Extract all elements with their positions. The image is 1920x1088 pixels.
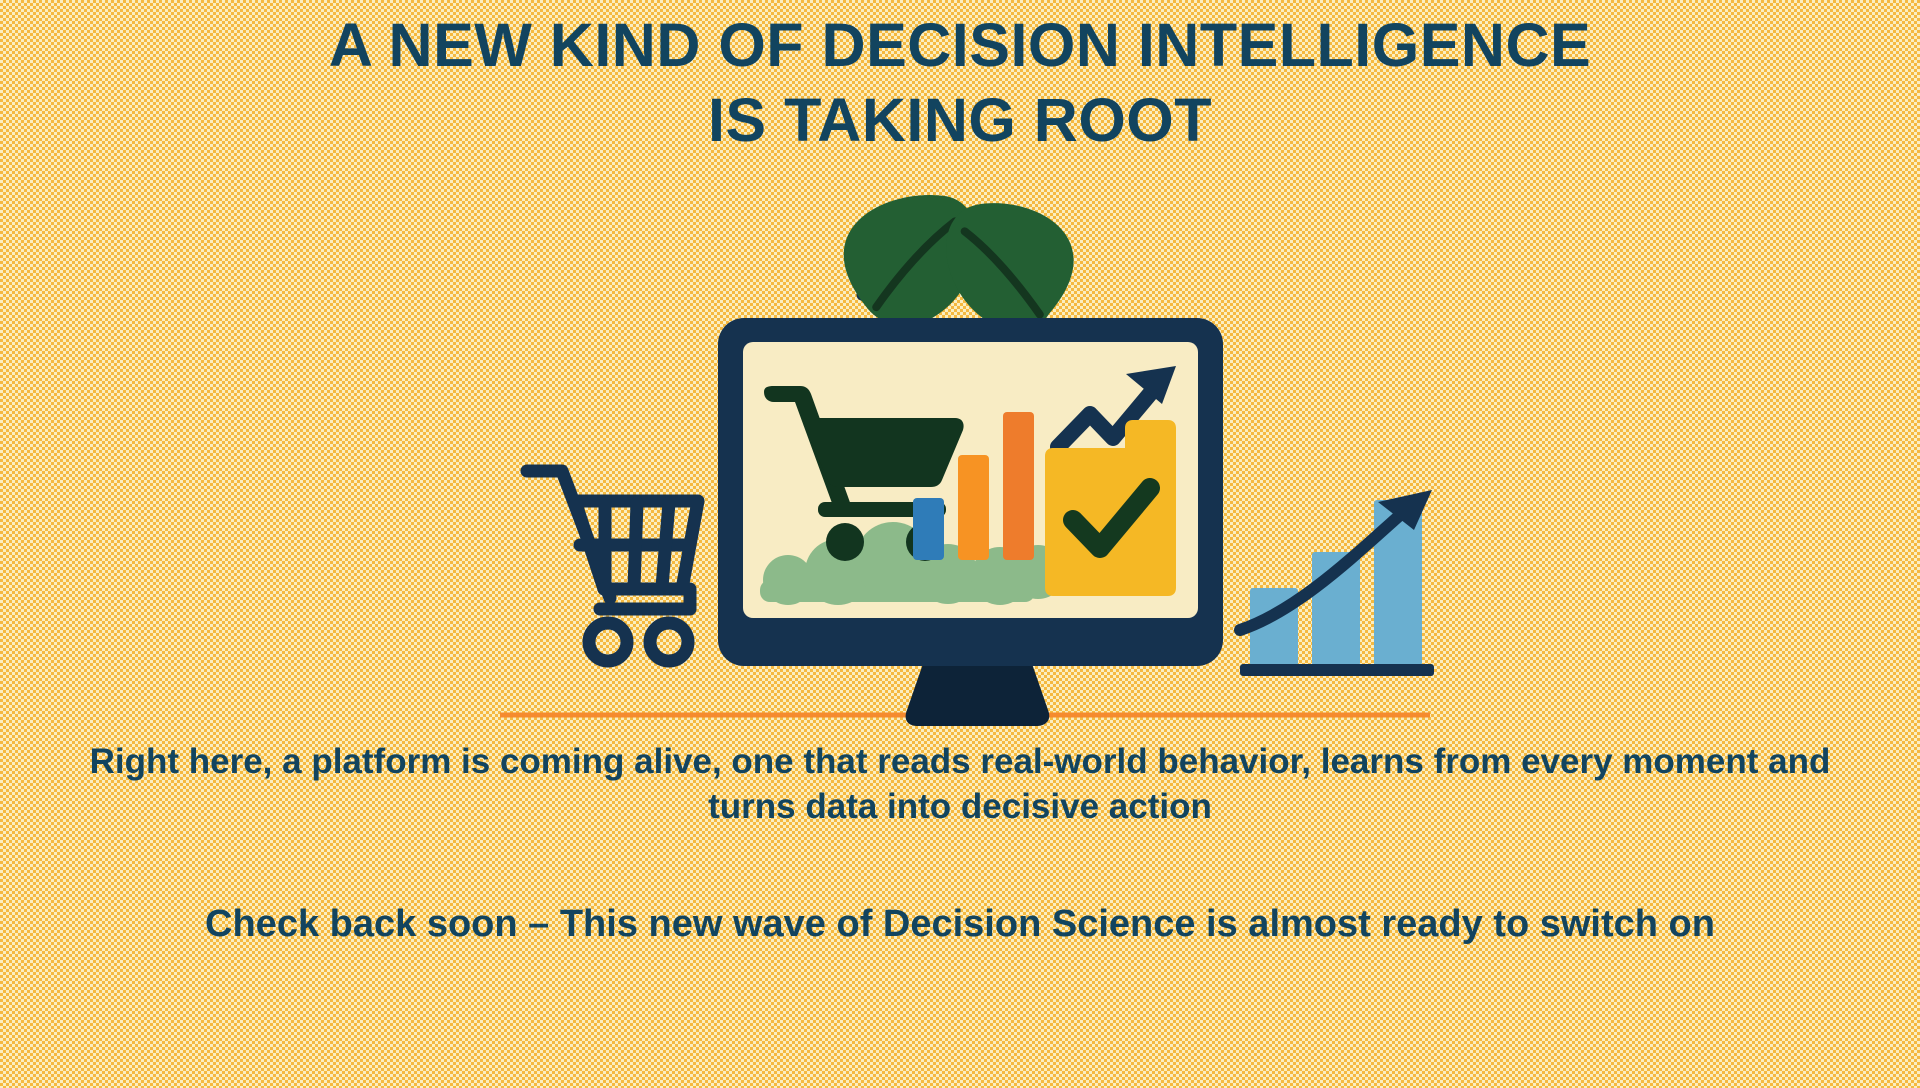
external-chart-baseline (1240, 664, 1434, 676)
headline-line-2: IS TAKING ROOT (0, 83, 1920, 158)
paragraph-secondary: Check back soon – This new wave of Decis… (0, 900, 1920, 949)
shopping-cart-outline-icon (527, 471, 698, 661)
headline-line-1: A NEW KIND OF DECISION INTELLIGENCE (0, 8, 1920, 83)
external-growth-chart (1240, 490, 1434, 676)
monitor-stand (906, 658, 1050, 726)
body-copy: Right here, a platform is coming alive, … (0, 740, 1920, 948)
desktop-monitor (718, 318, 1223, 726)
screen-bar-3 (1003, 412, 1034, 560)
paragraph-primary: Right here, a platform is coming alive, … (0, 740, 1920, 830)
screen-bar-2 (958, 455, 989, 560)
growth-decision-intelligence-illustration (0, 190, 1920, 730)
screen-bar-1 (913, 498, 944, 560)
page-title: A NEW KIND OF DECISION INTELLIGENCE IS T… (0, 8, 1920, 158)
poster-canvas: A NEW KIND OF DECISION INTELLIGENCE IS T… (0, 0, 1920, 1088)
